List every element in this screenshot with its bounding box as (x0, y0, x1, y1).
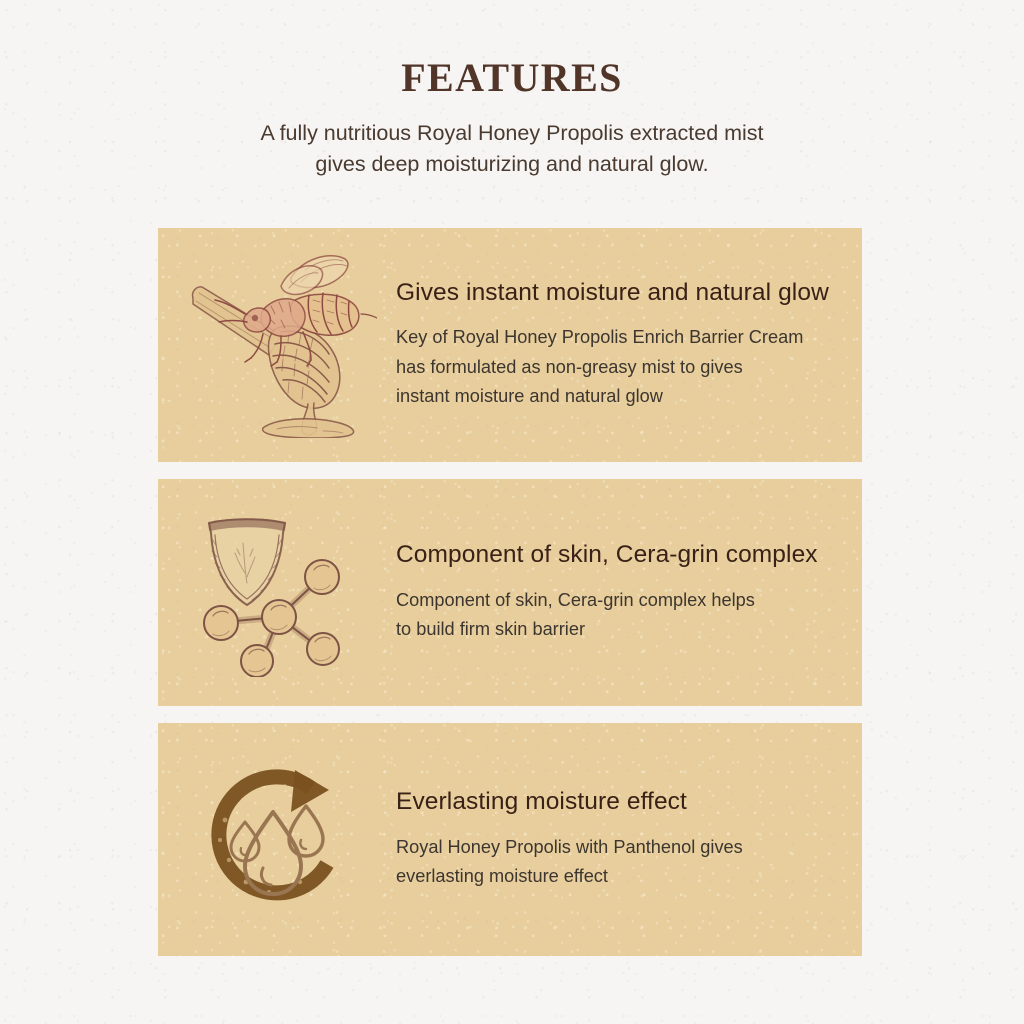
feature-description: Royal Honey Propolis with Panthenol give… (396, 833, 743, 892)
subtitle-line-1: A fully nutritious Royal Honey Propolis … (0, 118, 1024, 149)
shield-molecule-icon (158, 479, 396, 706)
feature-description-line-1: Key of Royal Honey Propolis Enrich Barri… (396, 323, 829, 352)
recycle-droplets-icon (158, 723, 396, 956)
feature-card-cera-grin-complex: Component of skin, Cera-grin complex Com… (158, 479, 862, 706)
feature-card-text-block: Component of skin, Cera-grin complex Com… (396, 540, 842, 644)
feature-heading: Component of skin, Cera-grin complex (396, 540, 818, 569)
feature-description-line-1: Component of skin, Cera-grin complex hel… (396, 586, 818, 615)
header: FEATURES A fully nutritious Royal Honey … (0, 58, 1024, 179)
feature-description-line-1: Royal Honey Propolis with Panthenol give… (396, 833, 743, 862)
bee-honey-dipper-icon (158, 228, 396, 462)
feature-card-list: Gives instant moisture and natural glow … (158, 228, 862, 956)
page-title: FEATURES (0, 58, 1024, 98)
feature-description-line-2: to build firm skin barrier (396, 615, 818, 644)
feature-card-everlasting-moisture: Everlasting moisture effect Royal Honey … (158, 723, 862, 956)
subtitle-line-2: gives deep moisturizing and natural glow… (0, 149, 1024, 180)
feature-description: Key of Royal Honey Propolis Enrich Barri… (396, 323, 829, 411)
feature-description-line-2: everlasting moisture effect (396, 862, 743, 891)
feature-card-text-block: Gives instant moisture and natural glow … (396, 278, 853, 412)
feature-card-moisture-glow: Gives instant moisture and natural glow … (158, 228, 862, 462)
feature-card-text-block: Everlasting moisture effect Royal Honey … (396, 787, 767, 891)
feature-description: Component of skin, Cera-grin complex hel… (396, 586, 818, 645)
feature-description-line-2: has formulated as non-greasy mist to giv… (396, 353, 829, 382)
feature-heading: Everlasting moisture effect (396, 787, 743, 816)
feature-heading: Gives instant moisture and natural glow (396, 278, 829, 307)
feature-description-line-3: instant moisture and natural glow (396, 382, 829, 411)
page-subtitle: A fully nutritious Royal Honey Propolis … (0, 118, 1024, 179)
